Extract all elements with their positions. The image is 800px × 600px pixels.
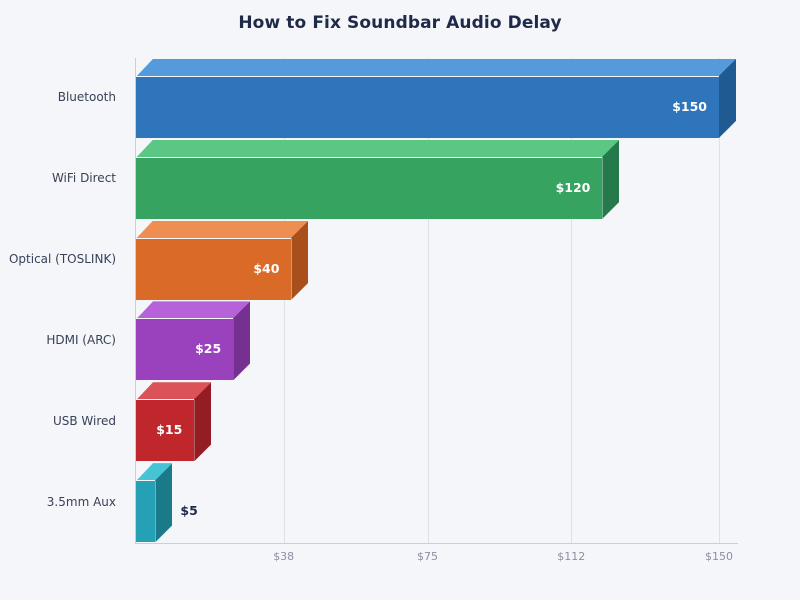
bar-value-label: $25	[195, 341, 221, 356]
chart-title: How to Fix Soundbar Audio Delay	[0, 13, 800, 33]
bar-value-label: $120	[556, 180, 591, 195]
plot-area: $150$120$40$25$15$5 $38$75$112$150	[136, 58, 738, 543]
x-tick-label: $150	[705, 550, 733, 563]
x-tick-label: $112	[557, 550, 585, 563]
x-axis-line	[135, 543, 738, 544]
bar-top-face	[136, 59, 736, 77]
x-tick-label: $75	[417, 550, 438, 563]
bar-front-face	[136, 157, 602, 219]
y-category-label-bluetooth: Bluetooth	[58, 90, 126, 104]
y-category-label-usb-wired: USB Wired	[53, 414, 126, 428]
bar-usb-wired[interactable]: $15	[136, 399, 211, 478]
x-tick-label: $38	[273, 550, 294, 563]
y-category-label-wifi-direct: WiFi Direct	[52, 171, 126, 185]
bar-value-label: $5	[180, 503, 197, 518]
chart-container: How to Fix Soundbar Audio Delay Bluetoot…	[0, 0, 800, 600]
bar-top-face	[136, 140, 619, 158]
bar-top-face	[136, 301, 250, 319]
bar-top-face	[136, 221, 308, 239]
y-category-label-hdmi-arc: HDMI (ARC)	[46, 333, 126, 347]
bar-front-face	[136, 480, 155, 542]
bar-value-label: $150	[672, 99, 707, 114]
y-axis-category-labels: BluetoothWiFi DirectOptical (TOSLINK)HDM…	[0, 58, 126, 543]
y-category-label-3-5mm-aux: 3.5mm Aux	[47, 495, 126, 509]
bar-value-label: $15	[156, 422, 182, 437]
bar-value-label: $40	[253, 261, 279, 276]
bar-front-face	[136, 76, 719, 138]
y-category-label-optical-toslink: Optical (TOSLINK)	[9, 252, 126, 266]
bar-3-5mm-aux[interactable]: $5	[136, 480, 172, 559]
